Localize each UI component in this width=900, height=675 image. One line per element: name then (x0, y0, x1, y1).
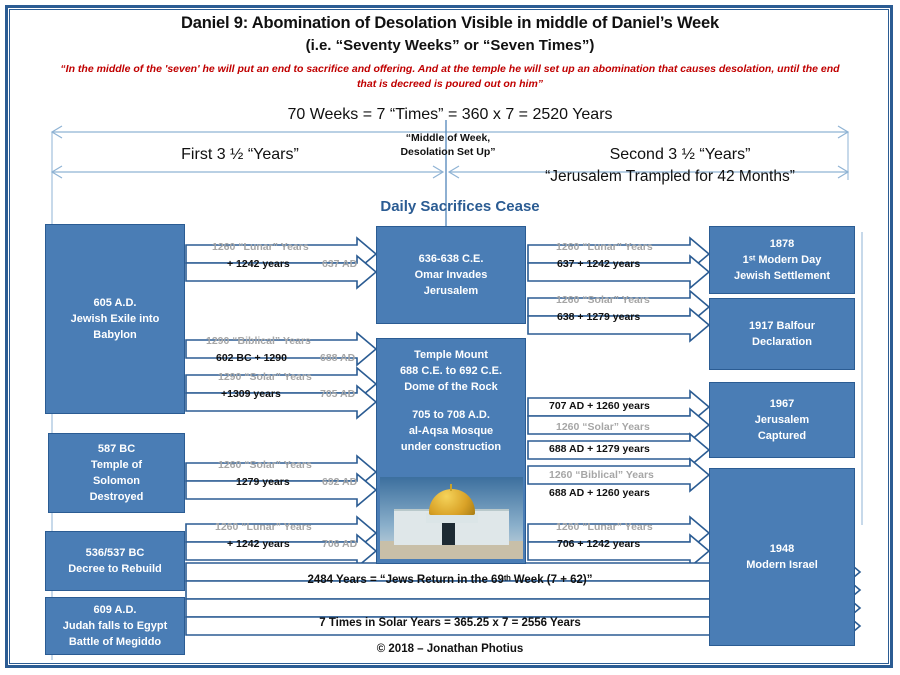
arrow-label-black: 637 + 1242 years (557, 258, 640, 270)
box-line: 536/537 BC (48, 545, 182, 561)
box-line: 605 A.D. (48, 295, 182, 311)
arrow-label-result: 706 AD (322, 538, 357, 550)
box-line: 688 C.E. to 692 C.E. (379, 363, 523, 379)
box-1917-balfour-declaration[interactable]: 1917 Balfour Declaration (709, 298, 855, 370)
dome-of-the-rock-photo (380, 477, 523, 559)
box-line: 1917 Balfour (712, 318, 852, 334)
box-line: Jewish Settlement (712, 268, 852, 284)
arrow-label-black: + 1242 years (227, 258, 290, 270)
box-line: 705 to 708 A.D. (379, 407, 523, 423)
box-line: 1ˢᵗ Modern Day (712, 252, 852, 268)
bottom-arrow-label-jews-return: 2484 Years = “Jews Return in the 69ᵗʰ We… (0, 574, 900, 586)
arrow-label-result: 688 AD (320, 352, 355, 364)
arrow-label-black: 638 + 1279 years (557, 311, 640, 323)
arrow-label-black: 1279 years (236, 476, 290, 488)
label-middle-of-week: “Middle of Week, Desolation Set Up” (378, 131, 518, 159)
box-line: 609 A.D. (48, 602, 182, 618)
label-first-half: First 3 ½ “Years” (120, 146, 360, 164)
box-636-omar-invades-jerusalem[interactable]: 636-638 C.E. Omar Invades Jerusalem (376, 226, 526, 324)
arrow-label-black: 688 AD + 1279 years (549, 443, 650, 455)
arrow-label-result: 692 AD (322, 476, 357, 488)
box-line: Temple of (51, 457, 182, 473)
page-title: Daniel 9: Abomination of Desolation Visi… (30, 14, 870, 33)
arrow-label-gray: 1260 “Lunar” Years (215, 521, 312, 533)
copyright-footer: © 2018 – Jonathan Photius (260, 643, 640, 655)
arrow-label-gray: 1260 “Biblical” Years (549, 469, 654, 481)
arrow-label-black: 707 AD + 1260 years (549, 400, 650, 412)
box-line: Destroyed (51, 489, 182, 505)
scripture-quote: “In the middle of the 'seven' he will pu… (55, 62, 845, 92)
box-605-jewish-exile[interactable]: 605 A.D. Jewish Exile into Babylon (45, 224, 185, 414)
box-line: 1878 (712, 236, 852, 252)
arrow-label-gray: 1290 “Solar” Years (218, 371, 312, 383)
box-1967-jerusalem-captured[interactable]: 1967 Jerusalem Captured (709, 382, 855, 458)
arrow-label-black: 706 + 1242 years (557, 538, 640, 550)
box-line: Battle of Megiddo (48, 634, 182, 650)
box-line: Omar Invades (379, 267, 523, 283)
weeks-formula: 70 Weeks = 7 “Times” = 360 x 7 = 2520 Ye… (30, 106, 870, 124)
box-line: Temple Mount (379, 347, 523, 363)
arrow-label-black: 688 AD + 1260 years (549, 487, 650, 499)
box-line: 636-638 C.E. (379, 251, 523, 267)
arrow-label-gray: 1260 “Lunar” Years (556, 521, 653, 533)
box-line: 587 BC (51, 441, 182, 457)
arrow-label-gray: 1290 “Biblical” Years (206, 335, 311, 347)
box-line: Modern Israel (712, 557, 852, 573)
box-line: under construction (379, 439, 523, 455)
label-second-half: Second 3 ½ “Years” (530, 146, 830, 164)
label-daily-sacrifices-cease: Daily Sacrifices Cease (330, 198, 590, 215)
diagram-canvas: Daniel 9: Abomination of Desolation Visi… (0, 0, 900, 675)
page-subtitle: (i.e. “Seventy Weeks” or “Seven Times”) (30, 37, 870, 54)
box-line: 1967 (712, 396, 852, 412)
label-jerusalem-trampled: “Jerusalem Trampled for 42 Months” (480, 168, 860, 186)
photo-doorway (442, 523, 455, 545)
box-spacer (379, 395, 523, 407)
box-line: Jerusalem (712, 412, 852, 428)
box-line: 1948 (712, 541, 852, 557)
arrow-label-gray: 1260 “Lunar” Years (556, 241, 653, 253)
arrow-label-gray: 1260 “Solar” Years (556, 294, 650, 306)
arrow-label-gray: 1260 “Lunar” Years (212, 241, 309, 253)
arrow-label-result: 637 AD (322, 258, 357, 270)
box-line: Declaration (712, 334, 852, 350)
arrow-label-gray: 1260 “Solar” Years (218, 459, 312, 471)
bottom-arrow-label-seven-times-solar: 7 Times in Solar Years = 365.25 x 7 = 25… (0, 617, 900, 629)
box-line: Babylon (48, 327, 182, 343)
arrow-label-gray: 1260 “Solar” Years (556, 421, 650, 433)
box-line: Captured (712, 428, 852, 444)
box-line: Jerusalem (379, 283, 523, 299)
photo-spire (450, 484, 452, 491)
box-line: Dome of the Rock (379, 379, 523, 395)
box-line: Jewish Exile into (48, 311, 182, 327)
box-line: Solomon (51, 473, 182, 489)
arrow-label-black: 602 BC + 1290 (216, 352, 287, 364)
arrow-label-black: + 1242 years (227, 538, 290, 550)
box-587-temple-destroyed[interactable]: 587 BC Temple of Solomon Destroyed (48, 433, 185, 513)
box-line: al-Aqsa Mosque (379, 423, 523, 439)
arrow-label-black: +1309 years (221, 388, 281, 400)
box-1878-first-modern-settlement[interactable]: 1878 1ˢᵗ Modern Day Jewish Settlement (709, 226, 855, 294)
arrow-label-result: 705 AD (320, 388, 355, 400)
